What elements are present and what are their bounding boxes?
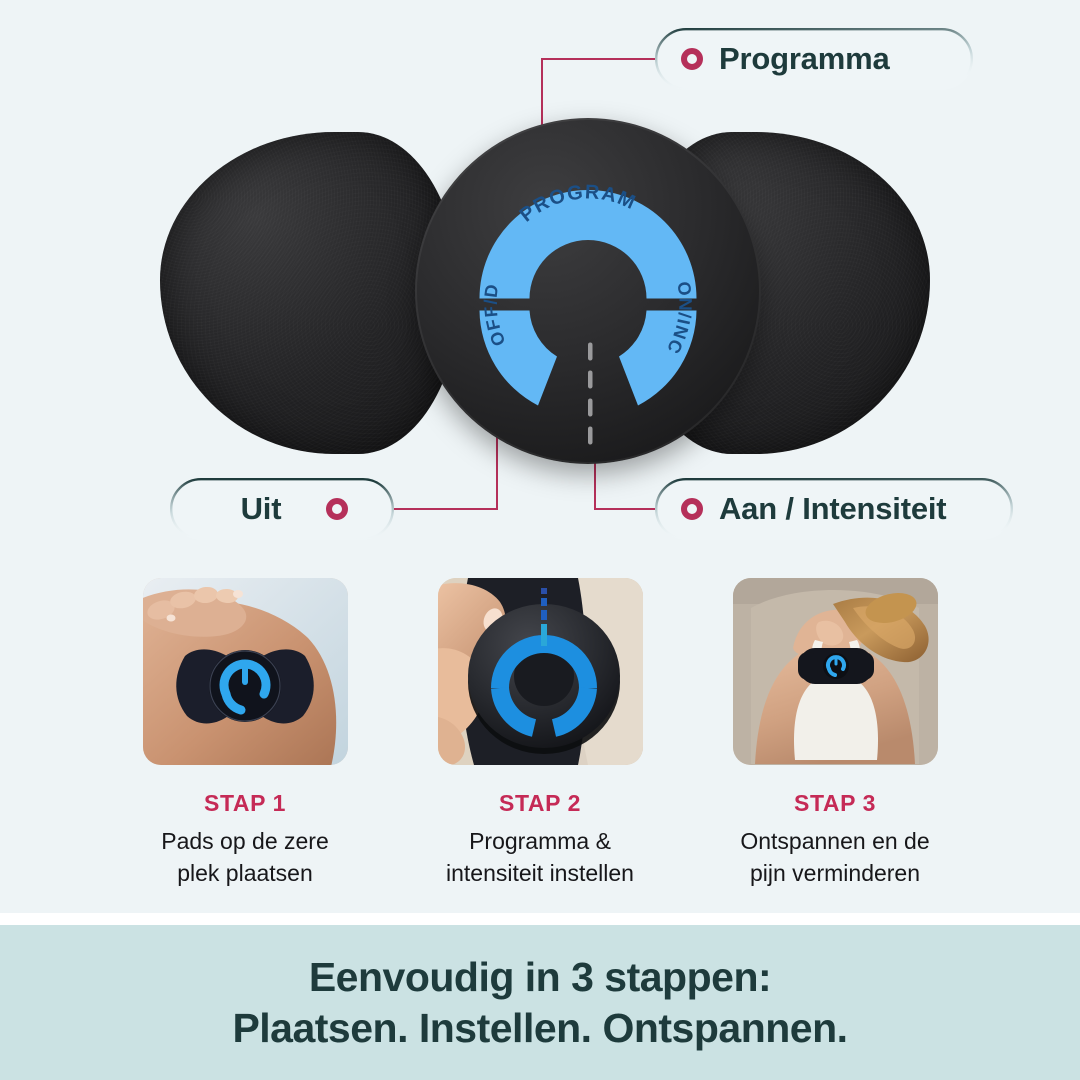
bottom-banner: Eenvoudig in 3 stappen: Plaatsen. Instel…	[0, 925, 1080, 1080]
intensity-dash-indicator	[585, 339, 595, 459]
callout-border	[170, 478, 394, 540]
callout-border	[655, 478, 1013, 540]
step-card-1: STAP 1 Pads op de zere plek plaatsen	[120, 578, 370, 889]
callout-dot-uit	[326, 498, 348, 520]
step-3-photo	[733, 578, 938, 765]
callout-programma[interactable]: Programma	[655, 28, 973, 90]
step-1-label: STAP 1	[120, 790, 370, 817]
step-3-description: Ontspannen en de pijn verminderen	[710, 826, 960, 889]
callout-uit[interactable]: Uit	[170, 478, 394, 540]
step-1-description: Pads op de zere plek plaatsen	[120, 826, 370, 889]
step-2-desc-line2: intensiteit instellen	[415, 858, 665, 890]
step-3-desc-line2: pijn verminderen	[710, 858, 960, 890]
step-2-desc-line1: Programma &	[415, 826, 665, 858]
tens-device-graphic: PROGRAM OFF/DEC ON/INC	[160, 118, 930, 468]
photo-woman-relaxing	[733, 578, 938, 765]
step-1-photo	[143, 578, 348, 765]
step-3-desc-line1: Ontspannen en de	[710, 826, 960, 858]
step-card-2: STAP 2 Programma & intensiteit instellen	[415, 578, 665, 889]
control-ring: PROGRAM OFF/DEC ON/INC	[438, 139, 738, 444]
photo-thumb-pressing-button	[438, 578, 643, 765]
infographic-stage: PROGRAM OFF/DEC ON/INC	[0, 0, 1080, 1080]
section-divider	[0, 913, 1080, 925]
banner-line-2: Plaatsen. Instellen. Ontspannen.	[232, 1003, 847, 1053]
photo-hand-placing-pad	[143, 578, 348, 765]
callout-border	[655, 28, 973, 90]
connector-programma-horizontal	[541, 58, 663, 60]
steps-section: STAP 1 Pads op de zere plek plaatsen	[0, 578, 1080, 908]
step-card-3: STAP 3 Ontspannen en de pijn verminderen	[710, 578, 960, 889]
banner-line-1: Eenvoudig in 3 stappen:	[309, 952, 771, 1002]
step-3-label: STAP 3	[710, 790, 960, 817]
step-1-desc-line1: Pads op de zere	[120, 826, 370, 858]
step-2-description: Programma & intensiteit instellen	[415, 826, 665, 889]
segment-program[interactable]	[480, 190, 697, 299]
callout-aan-intensiteit[interactable]: Aan / Intensiteit	[655, 478, 1013, 540]
step-1-desc-line2: plek plaatsen	[120, 858, 370, 890]
step-2-label: STAP 2	[415, 790, 665, 817]
step-2-photo	[438, 578, 643, 765]
device-control-hub: PROGRAM OFF/DEC ON/INC	[415, 118, 761, 464]
